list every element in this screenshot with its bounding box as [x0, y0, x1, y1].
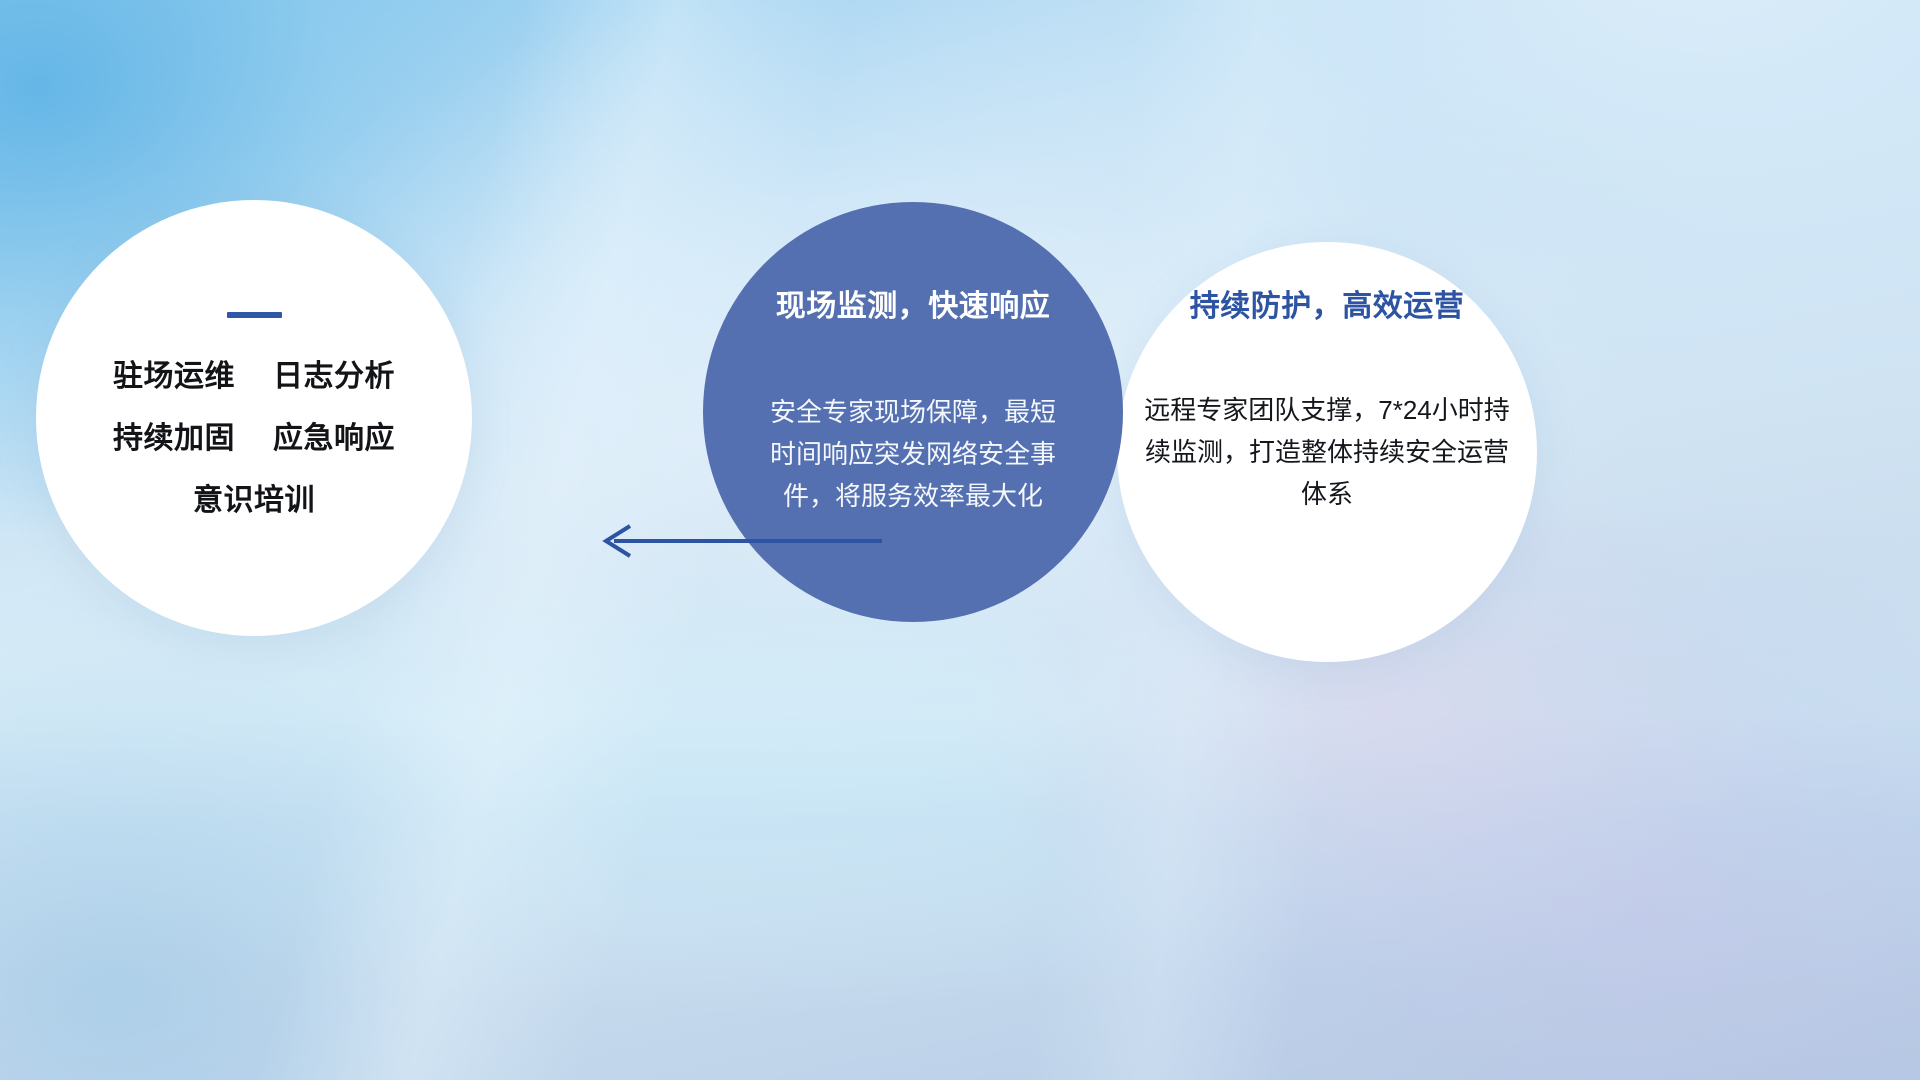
right-circle-title: 持续防护，高效运营	[1190, 290, 1465, 323]
capability-row: 持续加固 应急响应	[113, 424, 395, 454]
capability-tag-onsite-ops: 驻场运维	[113, 362, 235, 392]
capability-row: 驻场运维 日志分析	[113, 362, 395, 392]
middle-circle-title: 现场监测，快速响应	[776, 290, 1051, 323]
slide-canvas: 驻场运维 日志分析 持续加固 应急响应 意识培训 现场监测，快速响应 安全专家现…	[0, 0, 1920, 1080]
capability-tag-log-analysis: 日志分析	[273, 362, 395, 392]
left-circle-content: 驻场运维 日志分析 持续加固 应急响应 意识培训	[36, 200, 472, 636]
capability-tag-awareness-training: 意识培训	[193, 486, 315, 516]
capability-tag-continuous-hardening: 持续加固	[113, 424, 235, 454]
capability-tag-emergency-response: 应急响应	[273, 424, 395, 454]
capability-row: 意识培训	[193, 486, 315, 516]
middle-circle-body: 安全专家现场保障，最短时间响应突发网络安全事件，将服务效率最大化	[758, 391, 1068, 517]
middle-circle-content: 现场监测，快速响应 安全专家现场保障，最短时间响应突发网络安全事件，将服务效率最…	[703, 202, 1123, 622]
right-circle-body: 远程专家团队支撑，7*24小时持续监测，打造整体持续安全运营体系	[1135, 389, 1519, 515]
title-divider-dash	[227, 312, 282, 318]
right-circle-content: 持续防护，高效运营 远程专家团队支撑，7*24小时持续监测，打造整体持续安全运营…	[1117, 242, 1537, 662]
